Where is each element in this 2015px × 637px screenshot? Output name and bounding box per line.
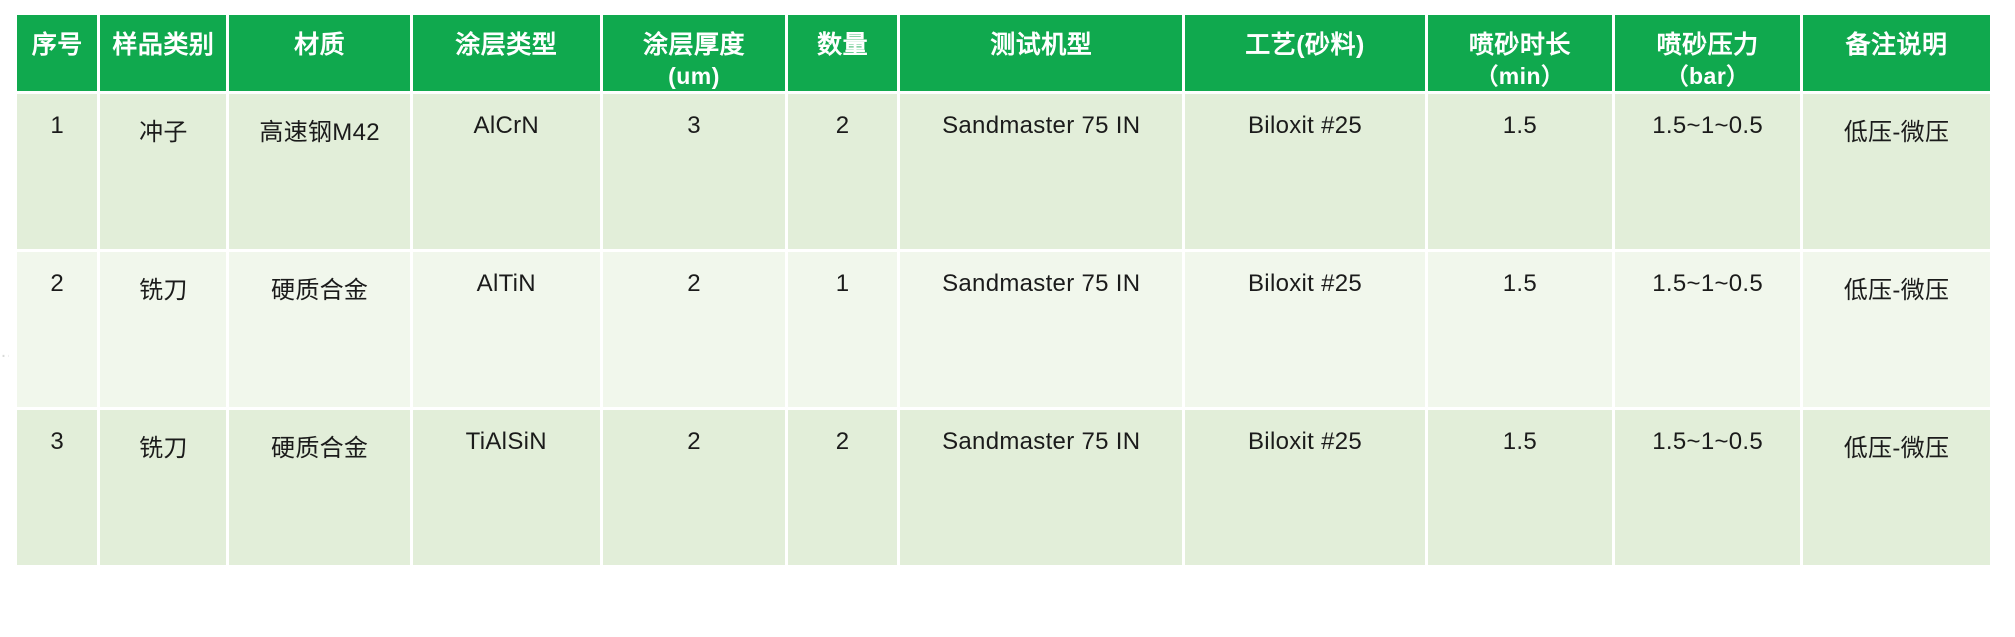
cell-blast-time: 1.5 bbox=[1428, 94, 1613, 249]
cell-machine: Sandmaster 75 IN bbox=[900, 252, 1183, 407]
cell-machine: Sandmaster 75 IN bbox=[900, 410, 1183, 565]
cell-index: 1 bbox=[17, 94, 97, 249]
column-header-blast-pressure-label: 喷砂压力 bbox=[1657, 31, 1759, 59]
cell-index: 3 bbox=[17, 410, 97, 565]
column-header-index-label: 序号 bbox=[32, 31, 83, 59]
cell-material: 高速钢M42 bbox=[229, 94, 409, 249]
column-header-machine-label: 测试机型 bbox=[990, 31, 1092, 59]
column-header-coating-thickness-label: 涂层厚度 bbox=[643, 31, 745, 59]
column-header-coating-type-label: 涂层类型 bbox=[455, 31, 557, 59]
column-header-material: 材质 bbox=[229, 15, 409, 91]
cell-process-media: Biloxit #25 bbox=[1185, 252, 1424, 407]
column-header-sample-type: 样品类别 bbox=[100, 15, 226, 91]
spec-table-container: 序号 样品类别 材质 涂层类型 涂层厚度(um) 数量 测试机型 工艺(砂料) … bbox=[14, 12, 1993, 627]
column-header-coating-thickness-unit: (um) bbox=[605, 62, 784, 92]
cell-remark: 低压-微压 bbox=[1803, 94, 1990, 249]
table-row: 2 铣刀 硬质合金 AlTiN 2 1 Sandmaster 75 IN Bil… bbox=[17, 252, 1990, 407]
column-header-blast-time-label: 喷砂时长 bbox=[1469, 31, 1571, 59]
column-header-process-media: 工艺(砂料) bbox=[1185, 15, 1424, 91]
cell-material: 硬质合金 bbox=[229, 410, 409, 565]
cell-remark: 低压-微压 bbox=[1803, 410, 1990, 565]
table-row: 3 铣刀 硬质合金 TiAlSiN 2 2 Sandmaster 75 IN B… bbox=[17, 410, 1990, 565]
table-body: 1 冲子 高速钢M42 AlCrN 3 2 Sandmaster 75 IN B… bbox=[17, 94, 1990, 565]
table-row: 1 冲子 高速钢M42 AlCrN 3 2 Sandmaster 75 IN B… bbox=[17, 94, 1990, 249]
cell-quantity: 2 bbox=[788, 94, 897, 249]
cell-remark: 低压-微压 bbox=[1803, 252, 1990, 407]
column-header-quantity-label: 数量 bbox=[817, 31, 868, 59]
sandblasting-spec-table: 序号 样品类别 材质 涂层类型 涂层厚度(um) 数量 测试机型 工艺(砂料) … bbox=[14, 12, 1993, 568]
column-header-coating-thickness: 涂层厚度(um) bbox=[603, 15, 786, 91]
column-header-blast-pressure: 喷砂压力（bar） bbox=[1615, 15, 1800, 91]
cell-blast-time: 1.5 bbox=[1428, 252, 1613, 407]
table-header: 序号 样品类别 材质 涂层类型 涂层厚度(um) 数量 测试机型 工艺(砂料) … bbox=[17, 15, 1990, 91]
cell-blast-pressure: 1.5~1~0.5 bbox=[1615, 252, 1800, 407]
cell-quantity: 2 bbox=[788, 410, 897, 565]
cell-coating-type: AlTiN bbox=[413, 252, 600, 407]
cell-coating-thickness: 2 bbox=[603, 410, 786, 565]
cell-process-media: Biloxit #25 bbox=[1185, 410, 1424, 565]
cell-coating-thickness: 2 bbox=[603, 252, 786, 407]
cell-machine: Sandmaster 75 IN bbox=[900, 94, 1183, 249]
column-header-process-media-label: 工艺(砂料) bbox=[1245, 31, 1365, 59]
cell-sample-type: 铣刀 bbox=[100, 410, 226, 565]
cell-coating-thickness: 3 bbox=[603, 94, 786, 249]
cell-coating-type: AlCrN bbox=[413, 94, 600, 249]
column-header-quantity: 数量 bbox=[788, 15, 897, 91]
cell-sample-type: 铣刀 bbox=[100, 252, 226, 407]
cell-coating-type: TiAlSiN bbox=[413, 410, 600, 565]
cell-process-media: Biloxit #25 bbox=[1185, 94, 1424, 249]
cell-quantity: 1 bbox=[788, 252, 897, 407]
column-header-blast-time-unit: （min） bbox=[1430, 62, 1611, 92]
column-header-index: 序号 bbox=[17, 15, 97, 91]
column-header-machine: 测试机型 bbox=[900, 15, 1183, 91]
cell-material: 硬质合金 bbox=[229, 252, 409, 407]
table-header-row: 序号 样品类别 材质 涂层类型 涂层厚度(um) 数量 测试机型 工艺(砂料) … bbox=[17, 15, 1990, 91]
column-header-blast-pressure-unit: （bar） bbox=[1617, 62, 1798, 92]
cell-index: 2 bbox=[17, 252, 97, 407]
column-header-sample-type-label: 样品类别 bbox=[112, 31, 214, 59]
cell-blast-pressure: 1.5~1~0.5 bbox=[1615, 94, 1800, 249]
column-header-remark-label: 备注说明 bbox=[1846, 31, 1948, 59]
cell-blast-pressure: 1.5~1~0.5 bbox=[1615, 410, 1800, 565]
column-header-remark: 备注说明 bbox=[1803, 15, 1990, 91]
column-header-blast-time: 喷砂时长（min） bbox=[1428, 15, 1613, 91]
cell-blast-time: 1.5 bbox=[1428, 410, 1613, 565]
cell-sample-type: 冲子 bbox=[100, 94, 226, 249]
column-header-coating-type: 涂层类型 bbox=[413, 15, 600, 91]
column-header-material-label: 材质 bbox=[294, 31, 345, 59]
cropped-edge-glyph: … bbox=[0, 338, 9, 394]
